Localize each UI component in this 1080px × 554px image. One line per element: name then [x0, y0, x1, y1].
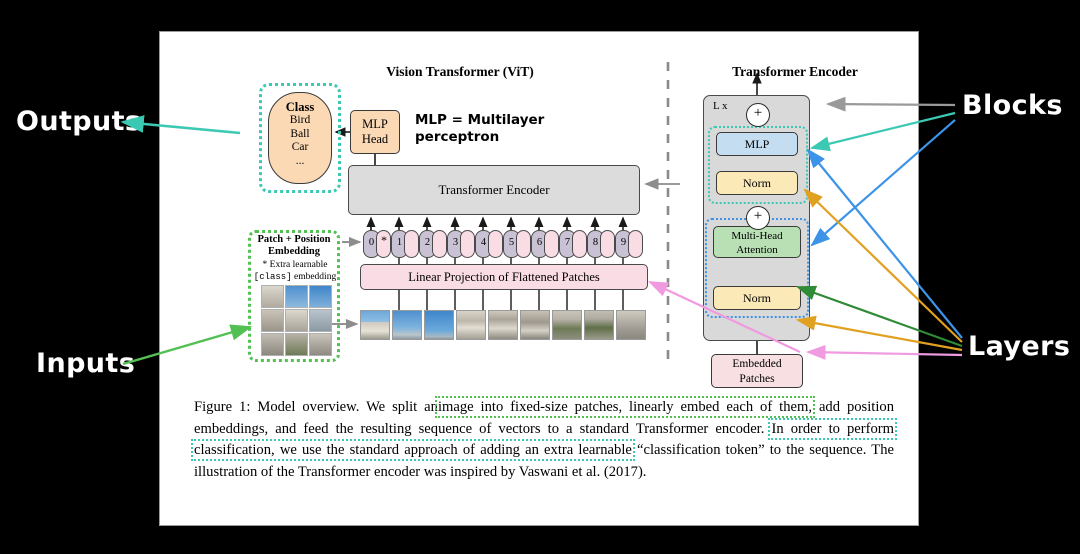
residual-add-top: +	[746, 103, 770, 127]
annotation-label-layers: Layers	[968, 331, 1070, 362]
encoder-norm-bottom: Norm	[713, 286, 801, 310]
patch-image	[552, 310, 582, 340]
transformer-encoder-bar: Transformer Encoder	[348, 165, 640, 215]
encoder-multi-head-attention: Multi-Head Attention	[713, 226, 801, 258]
mlp-head-block: MLP Head	[350, 110, 400, 154]
token-row: 0* 1 2 3 4 5 6 7 8 9	[363, 230, 643, 258]
mlp-head-line2: Head	[351, 132, 399, 147]
grid-patch	[285, 309, 308, 332]
figure-canvas: Vision Transformer (ViT) Transformer Enc…	[160, 32, 918, 525]
class-item: Ball	[269, 128, 331, 142]
figure-title-vit: Vision Transformer (ViT)	[330, 64, 590, 80]
linear-projection-bar: Linear Projection of Flattened Patches	[360, 264, 648, 290]
class-item: Car	[269, 141, 331, 155]
embedded-patches-block: Embedded Patches	[711, 354, 803, 388]
patch-image	[584, 310, 614, 340]
grid-patch	[285, 333, 308, 356]
patch-image	[456, 310, 486, 340]
grid-patch	[309, 309, 332, 332]
encoder-repeat-label: L x	[713, 100, 728, 112]
grid-patch	[261, 285, 284, 308]
extra-learnable-note: * Extra learnable [class] embedding	[252, 260, 338, 283]
encoder-norm-top: Norm	[716, 171, 798, 195]
mlp-head-line1: MLP	[351, 117, 399, 132]
source-image-patch-grid	[261, 285, 329, 354]
patch-image	[392, 310, 422, 340]
residual-add-bottom: +	[746, 206, 770, 230]
class-item: ...	[269, 155, 331, 169]
patch-image	[488, 310, 518, 340]
encoder-mlp-block: MLP	[716, 132, 798, 156]
grid-patch	[285, 285, 308, 308]
caption-seg1: Figure 1: Model overview. We split an	[194, 399, 438, 415]
annotation-label-outputs: Outputs	[16, 106, 141, 137]
annotation-label-inputs: Inputs	[36, 348, 135, 379]
patch-strip	[360, 310, 648, 340]
grid-patch	[261, 333, 284, 356]
patch-position-embedding-title: Patch + Position Embedding	[250, 234, 338, 258]
patch-image	[520, 310, 550, 340]
patch-image	[616, 310, 646, 340]
class-item: Bird	[269, 114, 331, 128]
mlp-legend-text: MLP = Multilayer perceptron	[415, 112, 585, 146]
grid-patch	[261, 309, 284, 332]
token-star: *	[378, 233, 390, 248]
patch-image	[360, 310, 390, 340]
vit-figure: Vision Transformer (ViT) Transformer Enc…	[160, 32, 918, 525]
grid-patch	[309, 285, 332, 308]
caption-highlight-green: image into fixed-size patches, linearly …	[438, 399, 812, 415]
grid-patch	[309, 333, 332, 356]
class-token-mono: [class]	[254, 272, 292, 282]
figure-caption: Figure 1: Model overview. We split anima…	[194, 397, 894, 483]
class-output-box: Class Bird Ball Car ...	[268, 92, 332, 184]
class-heading: Class	[269, 100, 331, 114]
annotation-label-blocks: Blocks	[962, 90, 1063, 121]
patch-image	[424, 310, 454, 340]
figure-title-transformer-encoder: Transformer Encoder	[680, 64, 910, 80]
screenshot-root: Outputs Inputs Blocks Layers	[0, 0, 1080, 554]
